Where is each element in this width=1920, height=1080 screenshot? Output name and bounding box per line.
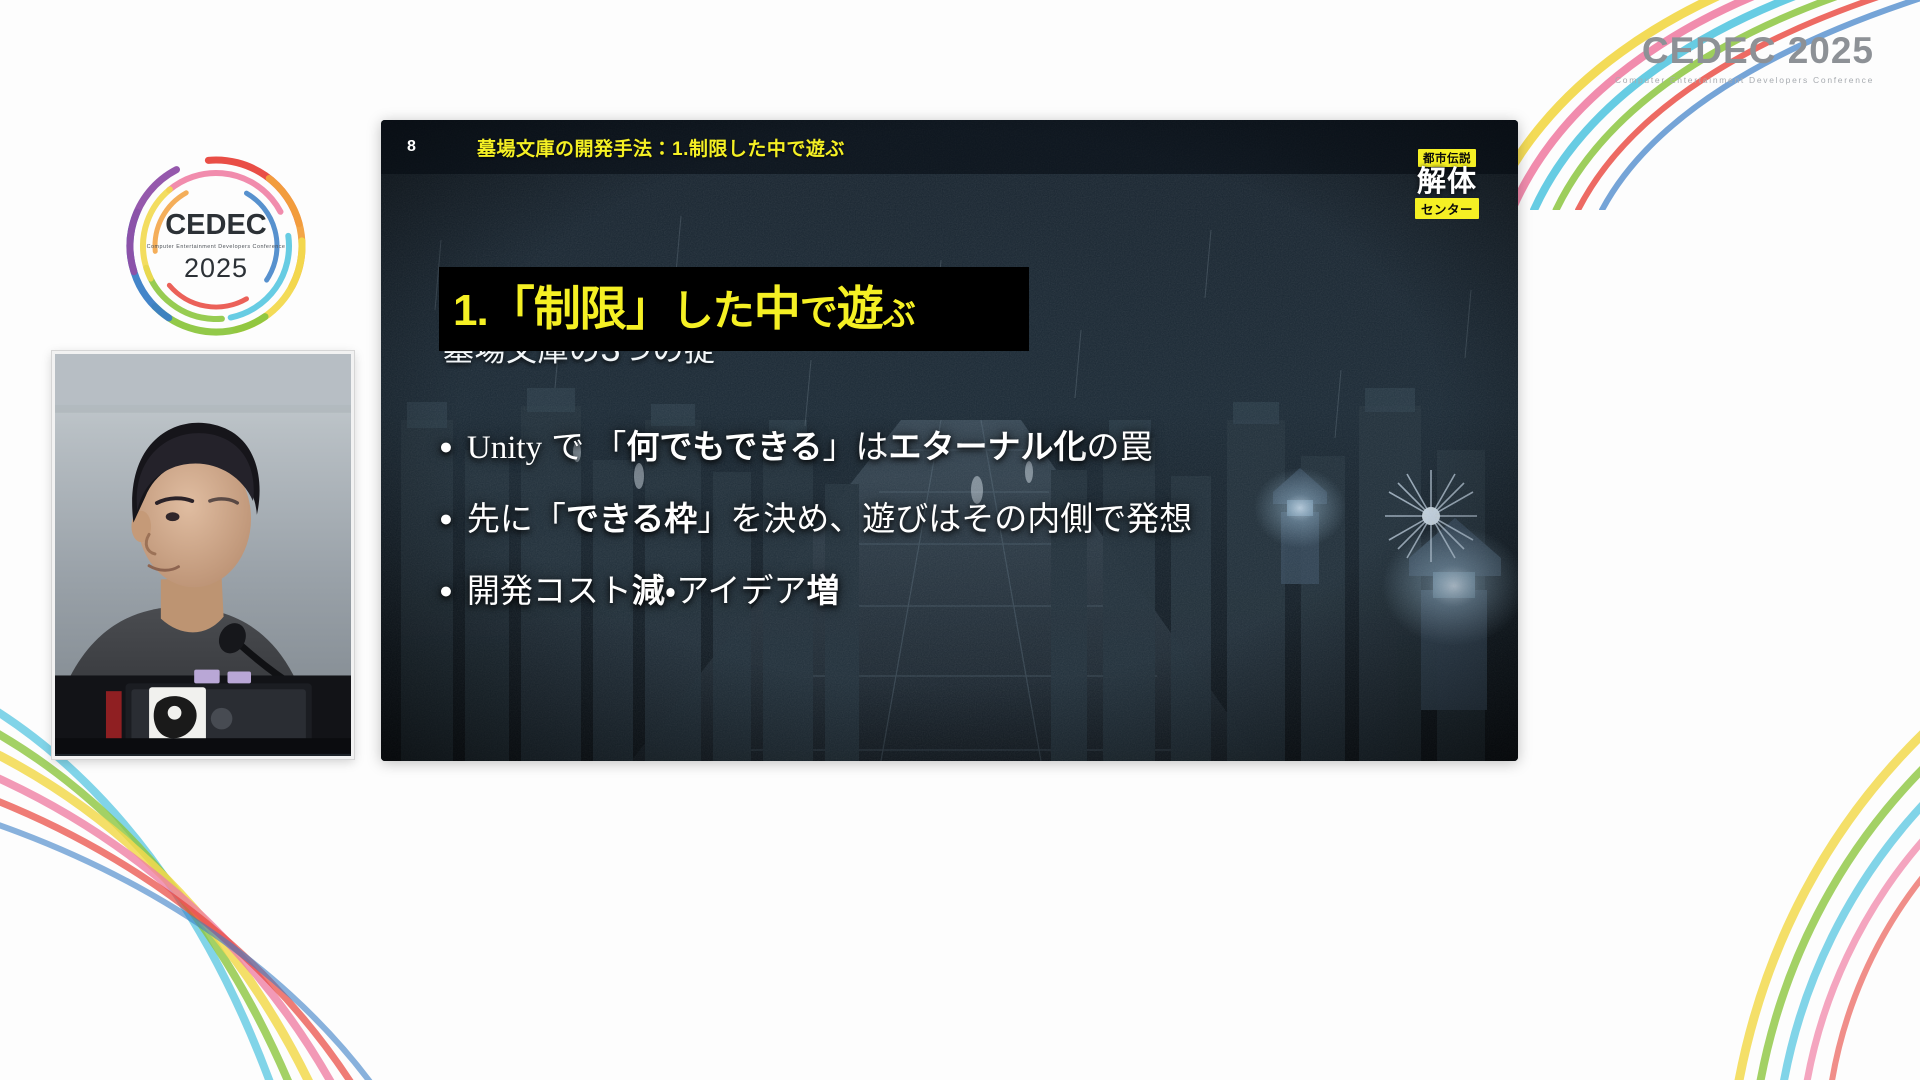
bullet-segment: 開発コスト bbox=[467, 572, 632, 609]
brand-badge-bottom-label: センター bbox=[1415, 198, 1479, 219]
cedec-ring-logo: CEDEC Computer Entertainment Developers … bbox=[118, 148, 314, 344]
cedec-ring-subtitle: Computer Entertainment Developers Confer… bbox=[147, 244, 286, 250]
cedec-ring-year: 2025 bbox=[184, 253, 248, 284]
slide-title-band: 1.「制限」した中で遊ぶ bbox=[439, 267, 1029, 351]
title-number: 1. bbox=[453, 286, 488, 335]
title-tail-c: で bbox=[800, 292, 837, 334]
bullet-emphasis: 何でもできる bbox=[626, 428, 822, 465]
slide-bullet-list: ●Unity で 「何でもできる」はエターナル化の罠●先に「できる枠」を決め、遊… bbox=[439, 420, 1488, 636]
bullet-segment: 」 bbox=[697, 500, 730, 537]
slide-title-text: 1.「制限」した中で遊ぶ bbox=[453, 285, 915, 333]
bullet-marker-icon: ● bbox=[439, 579, 453, 602]
ribbon-bottom-right-icon bbox=[1500, 660, 1920, 1080]
bullet-unity-trap: ●Unity で 「何でもできる」はエターナル化の罠 bbox=[439, 420, 1488, 468]
slide-header-title: 墓場文庫の開発手法：1.制限した中で遊ぶ bbox=[477, 134, 845, 161]
bullet-marker-icon: ● bbox=[439, 507, 453, 530]
title-quote-open: 「 bbox=[488, 282, 534, 335]
cedec-wordmark-logo: CEDEC 2025 Computer Entertainment Develo… bbox=[1615, 30, 1874, 85]
speaker-camera-image bbox=[55, 354, 351, 754]
bullet-segment: は bbox=[855, 428, 888, 465]
presentation-slide: 8 墓場文庫の開発手法：1.制限した中で遊ぶ 都市伝説 解体 センター 墓場文庫… bbox=[381, 120, 1518, 761]
presentation-stage: CEDEC 2025 Computer Entertainment Develo… bbox=[0, 0, 1920, 1080]
bullet-cost-ideas: ●開発コスト減・アイデア増 bbox=[439, 564, 1488, 612]
bullet-emphasis: エターナル化 bbox=[888, 428, 1086, 465]
bullet-text: Unity で 「何でもできる」はエターナル化の罠 bbox=[467, 420, 1153, 468]
cedec-wordmark-main: CEDEC 2025 bbox=[1615, 30, 1874, 72]
bullet-scope-first: ●先に「できる枠」を決め、遊びはその内側で発想 bbox=[439, 492, 1488, 540]
speaker-camera-feed bbox=[52, 351, 354, 759]
brand-badge-main-label: 解体 bbox=[1417, 168, 1477, 197]
cedec-ring-text: CEDEC Computer Entertainment Developers … bbox=[118, 148, 314, 344]
title-tail-d: 遊 bbox=[837, 282, 883, 335]
slide-page-number: 8 bbox=[407, 138, 447, 156]
bullet-segment: 」 bbox=[822, 428, 855, 465]
bullet-emphasis: 減 bbox=[632, 572, 665, 609]
bullet-emphasis: できる枠 bbox=[566, 500, 697, 537]
bullet-segment: を決め、遊びはその内側で発想 bbox=[730, 500, 1192, 537]
bullet-segment: 「 bbox=[593, 428, 626, 465]
cedec-ring-main: CEDEC bbox=[165, 209, 267, 242]
bullet-segment: の罠 bbox=[1086, 428, 1152, 465]
title-tail-e: ぶ bbox=[883, 295, 915, 332]
bullet-text: 開発コスト減・アイデア増 bbox=[467, 564, 840, 612]
bullet-segment: 「 bbox=[533, 500, 566, 537]
bullet-segment: 先に bbox=[467, 500, 533, 537]
title-tail-b: 中 bbox=[754, 282, 800, 335]
title-quote-close: 」 bbox=[626, 282, 672, 335]
bullet-segment: Unity bbox=[467, 430, 542, 466]
bullet-segment: ・アイデア bbox=[665, 572, 807, 609]
brand-badge-top-label: 都市伝説 bbox=[1418, 149, 1476, 167]
title-emphasis: 制限 bbox=[534, 282, 626, 335]
bullet-segment: で bbox=[542, 428, 593, 465]
title-tail-a: した bbox=[672, 287, 754, 334]
slide-header-bar: 8 墓場文庫の開発手法：1.制限した中で遊ぶ bbox=[381, 120, 1518, 174]
series-brand-badge: 都市伝説 解体 センター bbox=[1398, 142, 1496, 226]
bullet-text: 先に「できる枠」を決め、遊びはその内側で発想 bbox=[467, 492, 1192, 540]
bullet-emphasis: 増 bbox=[806, 572, 839, 609]
cedec-wordmark-subtitle: Computer Entertainment Developers Confer… bbox=[1615, 75, 1874, 85]
bullet-marker-icon: ● bbox=[439, 435, 453, 458]
